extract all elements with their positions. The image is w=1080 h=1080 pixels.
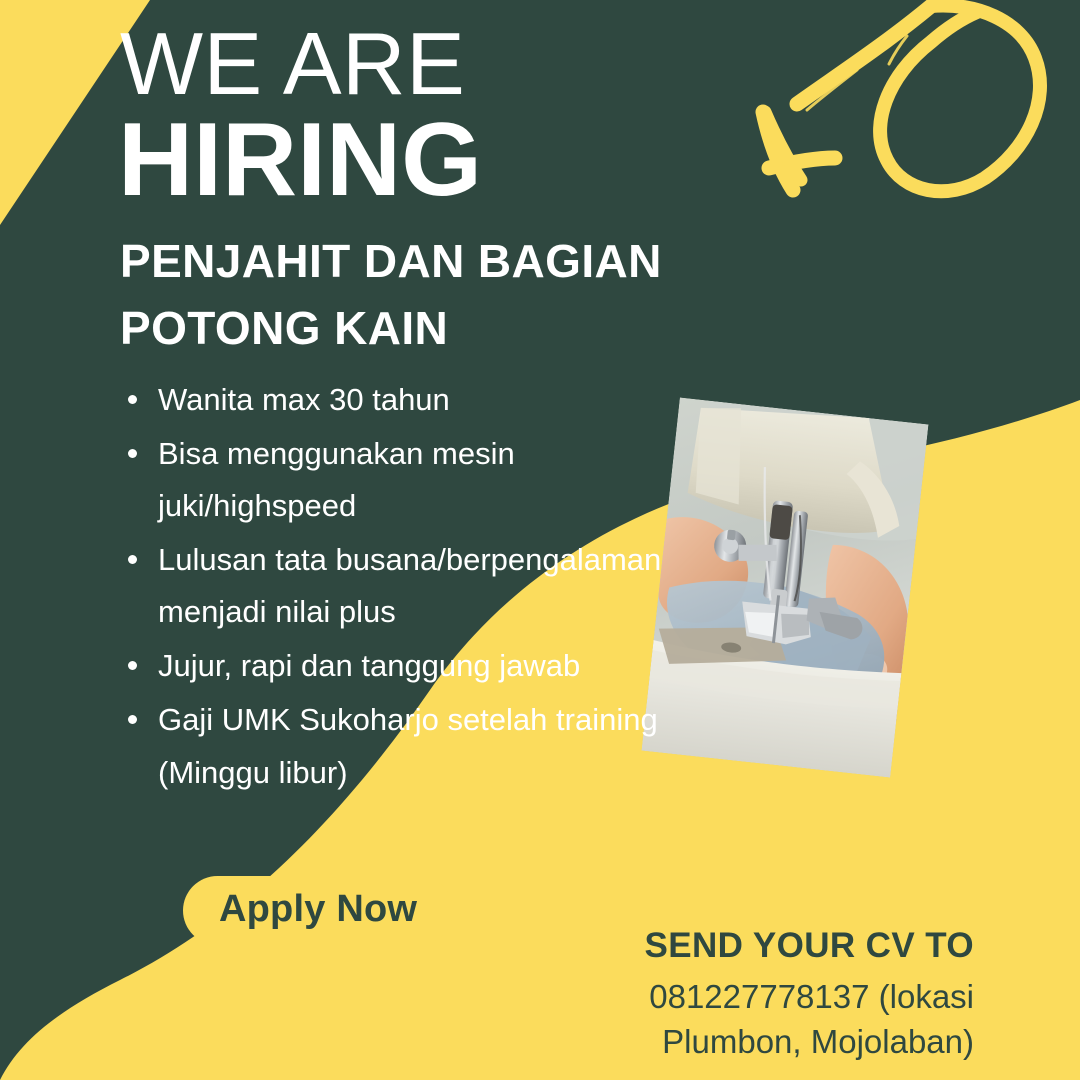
list-item: Lulusan tata busana/berpengalaman menjad… (124, 534, 664, 638)
requirement-text: Jujur, rapi dan tanggung jawab (158, 648, 580, 683)
sewing-machine-photo (642, 398, 929, 778)
apply-now-button[interactable]: Apply Now (183, 876, 453, 945)
requirement-text: Bisa menggunakan mesin juki/highspeed (158, 436, 515, 523)
requirement-text: Gaji UMK Sukoharjo setelah training (Min… (158, 702, 658, 789)
bullet-dot-icon (128, 715, 137, 724)
requirement-text: Wanita max 30 tahun (158, 382, 450, 417)
contact-title: SEND YOUR CV TO (504, 925, 974, 967)
curved-arrow-down-left-icon (735, 0, 1055, 215)
hiring-poster: WE ARE HIRING PENJAHIT DAN BAGIAN POTONG… (0, 0, 1080, 1080)
bullet-dot-icon (128, 395, 137, 404)
page-title-line1: WE ARE (120, 20, 465, 108)
contact-block: SEND YOUR CV TO 081227778137 (lokasi Plu… (504, 925, 974, 1064)
bullet-dot-icon (128, 555, 137, 564)
sewing-machine-illustration (642, 398, 929, 778)
bullet-dot-icon (128, 661, 137, 670)
list-item: Wanita max 30 tahun (124, 374, 664, 426)
curved-arrow-up-icon (232, 945, 402, 1080)
page-title-line2: HIRING (118, 108, 482, 212)
contact-phone: 081227778137 (lokasi Plumbon, Mojolaban) (504, 975, 974, 1064)
list-item: Bisa menggunakan mesin juki/highspeed (124, 428, 664, 532)
list-item: Gaji UMK Sukoharjo setelah training (Min… (124, 694, 664, 798)
requirement-text: Lulusan tata busana/berpengalaman menjad… (158, 542, 661, 629)
requirements-list: Wanita max 30 tahun Bisa menggunakan mes… (124, 374, 664, 801)
bullet-dot-icon (128, 449, 137, 458)
list-item: Jujur, rapi dan tanggung jawab (124, 640, 664, 692)
job-position-subtitle: PENJAHIT DAN BAGIAN POTONG KAIN (120, 228, 760, 361)
